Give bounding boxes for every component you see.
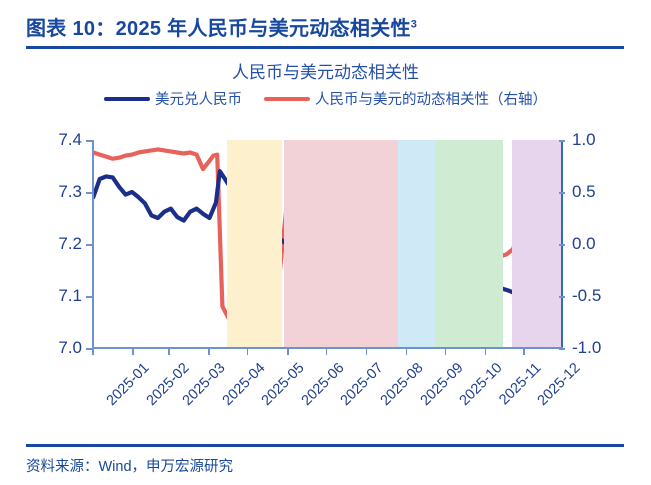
y-tick-label-right: 0.0	[572, 234, 628, 254]
legend-item-correlation: 人民币与美元的动态相关性（右轴）	[264, 88, 547, 109]
band-green	[435, 140, 503, 348]
x-tick	[168, 348, 170, 355]
y-tick-left	[86, 244, 92, 246]
y-tick-label-right: 0.5	[572, 182, 628, 202]
x-tick	[523, 348, 525, 355]
x-tick	[445, 348, 447, 355]
y-tick-right	[559, 348, 565, 350]
legend-item-usdcny: 美元兑人民币	[104, 88, 242, 109]
x-tick	[132, 348, 134, 355]
y-tick-right	[559, 244, 565, 246]
source-note: 资料来源：Wind，申万宏源研究	[26, 455, 233, 476]
x-tick	[92, 348, 94, 355]
x-tick-label: 2025-01	[104, 360, 153, 409]
title-divider	[26, 46, 624, 49]
x-tick	[247, 348, 249, 355]
x-tick	[406, 348, 408, 355]
band-pink	[284, 140, 398, 348]
legend-label-usdcny: 美元兑人民币	[155, 88, 242, 109]
figure-header: 图表 10：2025 年人民币与美元动态相关性3	[26, 12, 626, 41]
chart-title: 人民币与美元动态相关性	[0, 58, 651, 83]
y-tick-left	[86, 192, 92, 194]
y-tick-label-left: 7.2	[34, 234, 82, 254]
plot-area	[92, 140, 562, 348]
legend-label-correlation: 人民币与美元的动态相关性（右轴）	[315, 88, 547, 109]
x-tick-label: 2025-12	[535, 360, 584, 409]
x-tick	[287, 348, 289, 355]
y-tick-right	[559, 140, 565, 142]
figure-title-text: 图表 10：2025 年人民币与美元动态相关性	[26, 18, 411, 40]
band-purple	[512, 140, 562, 348]
x-tick-label: 2025-11	[496, 360, 544, 408]
x-tick-label: 2025-07	[337, 360, 386, 409]
x-tick-label: 2025-09	[417, 360, 466, 409]
x-axis	[92, 347, 563, 349]
y-tick-label-left: 7.1	[34, 286, 82, 306]
legend-swatch-red	[264, 97, 310, 101]
band-lightblue	[398, 140, 435, 348]
y-tick-label-right: 1.0	[572, 130, 628, 150]
y-tick-label-left: 7.0	[34, 338, 82, 358]
chart-container: 人民币与美元动态相关性 美元兑人民币 人民币与美元的动态相关性（右轴） 7.07…	[0, 50, 651, 435]
y-tick-left	[86, 140, 92, 142]
y-tick-right	[559, 296, 565, 298]
x-tick-label: 2025-06	[299, 360, 348, 409]
band-yellow	[227, 140, 282, 348]
footer-divider	[26, 444, 624, 447]
x-tick-label: 2025-08	[377, 360, 426, 409]
y-tick-left	[86, 296, 92, 298]
y-tick-label-left: 7.3	[34, 182, 82, 202]
figure-footnote-marker: 3	[411, 18, 417, 30]
x-tick	[326, 348, 328, 355]
x-tick-label: 2025-04	[220, 360, 269, 409]
x-tick	[485, 348, 487, 355]
x-tick	[208, 348, 210, 355]
x-tick-label: 2025-05	[258, 360, 307, 409]
y-axis-left	[92, 140, 94, 348]
page-title: 图表 10：2025 年人民币与美元动态相关性3	[26, 12, 626, 41]
x-tick	[366, 348, 368, 355]
y-tick-label-right: -0.5	[572, 286, 628, 306]
y-tick-label-left: 7.4	[34, 130, 82, 150]
y-tick-label-right: -1.0	[572, 338, 628, 358]
y-tick-right	[559, 192, 565, 194]
legend-swatch-blue	[104, 97, 150, 101]
chart-legend: 美元兑人民币 人民币与美元的动态相关性（右轴）	[0, 88, 651, 109]
